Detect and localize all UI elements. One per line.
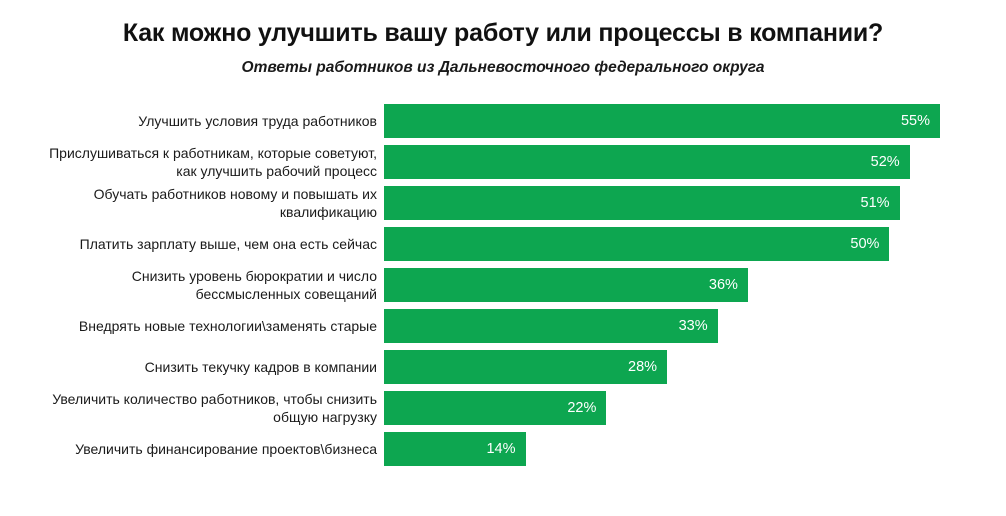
bar-track: 52% <box>384 145 1006 179</box>
bar-row: Улучшить условия труда работников55% <box>0 104 1006 138</box>
bar-category-label-line: Увеличить количество работников, чтобы с… <box>52 390 377 409</box>
bar-category-label: Снизить уровень бюрократии и числобессмы… <box>0 268 384 302</box>
bar-category-label: Увеличить количество работников, чтобы с… <box>0 391 384 425</box>
bar: 28% <box>384 350 667 384</box>
bar-value-label: 36% <box>709 278 738 293</box>
bar-category-label-line: Снизить уровень бюрократии и число <box>132 267 377 286</box>
chart-header: Как можно улучшить вашу работу или проце… <box>0 0 1006 78</box>
chart-subtitle: Ответы работников из Дальневосточного фе… <box>0 48 1006 78</box>
bar-category-label-line: Улучшить условия труда работников <box>138 112 377 131</box>
bar: 50% <box>384 227 889 261</box>
bar-value-label: 51% <box>861 196 890 211</box>
bar-category-label: Прислушиваться к работникам, которые сов… <box>0 145 384 179</box>
bar-value-label: 50% <box>850 237 879 252</box>
bar-row: Увеличить финансирование проектов\бизнес… <box>0 432 1006 466</box>
bar-category-label-line: Внедрять новые технологии\заменять стары… <box>79 317 377 336</box>
bar: 52% <box>384 145 910 179</box>
bar-track: 28% <box>384 350 1006 384</box>
bar-row: Прислушиваться к работникам, которые сов… <box>0 145 1006 179</box>
bar-value-label: 52% <box>871 155 900 170</box>
bar-category-label-line: как улучшить рабочий процесс <box>176 162 377 181</box>
bar-value-label: 55% <box>901 114 930 129</box>
bar-category-label-line: Прислушиваться к работникам, которые сов… <box>49 144 377 163</box>
bar-track: 36% <box>384 268 1006 302</box>
chart-title: Как можно улучшить вашу работу или проце… <box>0 18 1006 48</box>
bar-chart-figure: Как можно улучшить вашу работу или проце… <box>0 0 1006 516</box>
bar-category-label: Снизить текучку кадров в компании <box>0 350 384 384</box>
bar-value-label: 22% <box>567 401 596 416</box>
bar-category-label: Увеличить финансирование проектов\бизнес… <box>0 432 384 466</box>
bar-category-label-line: Обучать работников новому и повышать их <box>94 185 377 204</box>
bar-track: 33% <box>384 309 1006 343</box>
bar: 14% <box>384 432 526 466</box>
bar: 33% <box>384 309 718 343</box>
bar-row: Платить зарплату выше, чем она есть сейч… <box>0 227 1006 261</box>
bar-category-label-line: общую нагрузку <box>273 408 377 427</box>
bar-value-label: 28% <box>628 360 657 375</box>
bar-category-label-line: бессмысленных совещаний <box>196 285 377 304</box>
bar-row: Снизить текучку кадров в компании28% <box>0 350 1006 384</box>
bar-value-label: 14% <box>486 442 515 457</box>
bar-row: Снизить уровень бюрократии и числобессмы… <box>0 268 1006 302</box>
bar-category-label-line: Увеличить финансирование проектов\бизнес… <box>75 440 377 459</box>
plot-area: Улучшить условия труда работников55%Прис… <box>0 104 1006 473</box>
bar-row: Внедрять новые технологии\заменять стары… <box>0 309 1006 343</box>
bar-track: 55% <box>384 104 1006 138</box>
bar-track: 51% <box>384 186 1006 220</box>
bar-value-label: 33% <box>679 319 708 334</box>
bar-row: Увеличить количество работников, чтобы с… <box>0 391 1006 425</box>
bar-category-label: Платить зарплату выше, чем она есть сейч… <box>0 227 384 261</box>
bar: 55% <box>384 104 940 138</box>
bar: 51% <box>384 186 900 220</box>
bar-row: Обучать работников новому и повышать ихк… <box>0 186 1006 220</box>
bar-category-label: Обучать работников новому и повышать ихк… <box>0 186 384 220</box>
bar-category-label-line: Платить зарплату выше, чем она есть сейч… <box>80 235 377 254</box>
bar: 36% <box>384 268 748 302</box>
bar-track: 50% <box>384 227 1006 261</box>
bar-category-label-line: Снизить текучку кадров в компании <box>145 358 377 377</box>
bar-track: 14% <box>384 432 1006 466</box>
bar-category-label: Внедрять новые технологии\заменять стары… <box>0 309 384 343</box>
bar-track: 22% <box>384 391 1006 425</box>
bar-category-label-line: квалификацию <box>280 203 377 222</box>
bar: 22% <box>384 391 606 425</box>
bar-category-label: Улучшить условия труда работников <box>0 104 384 138</box>
